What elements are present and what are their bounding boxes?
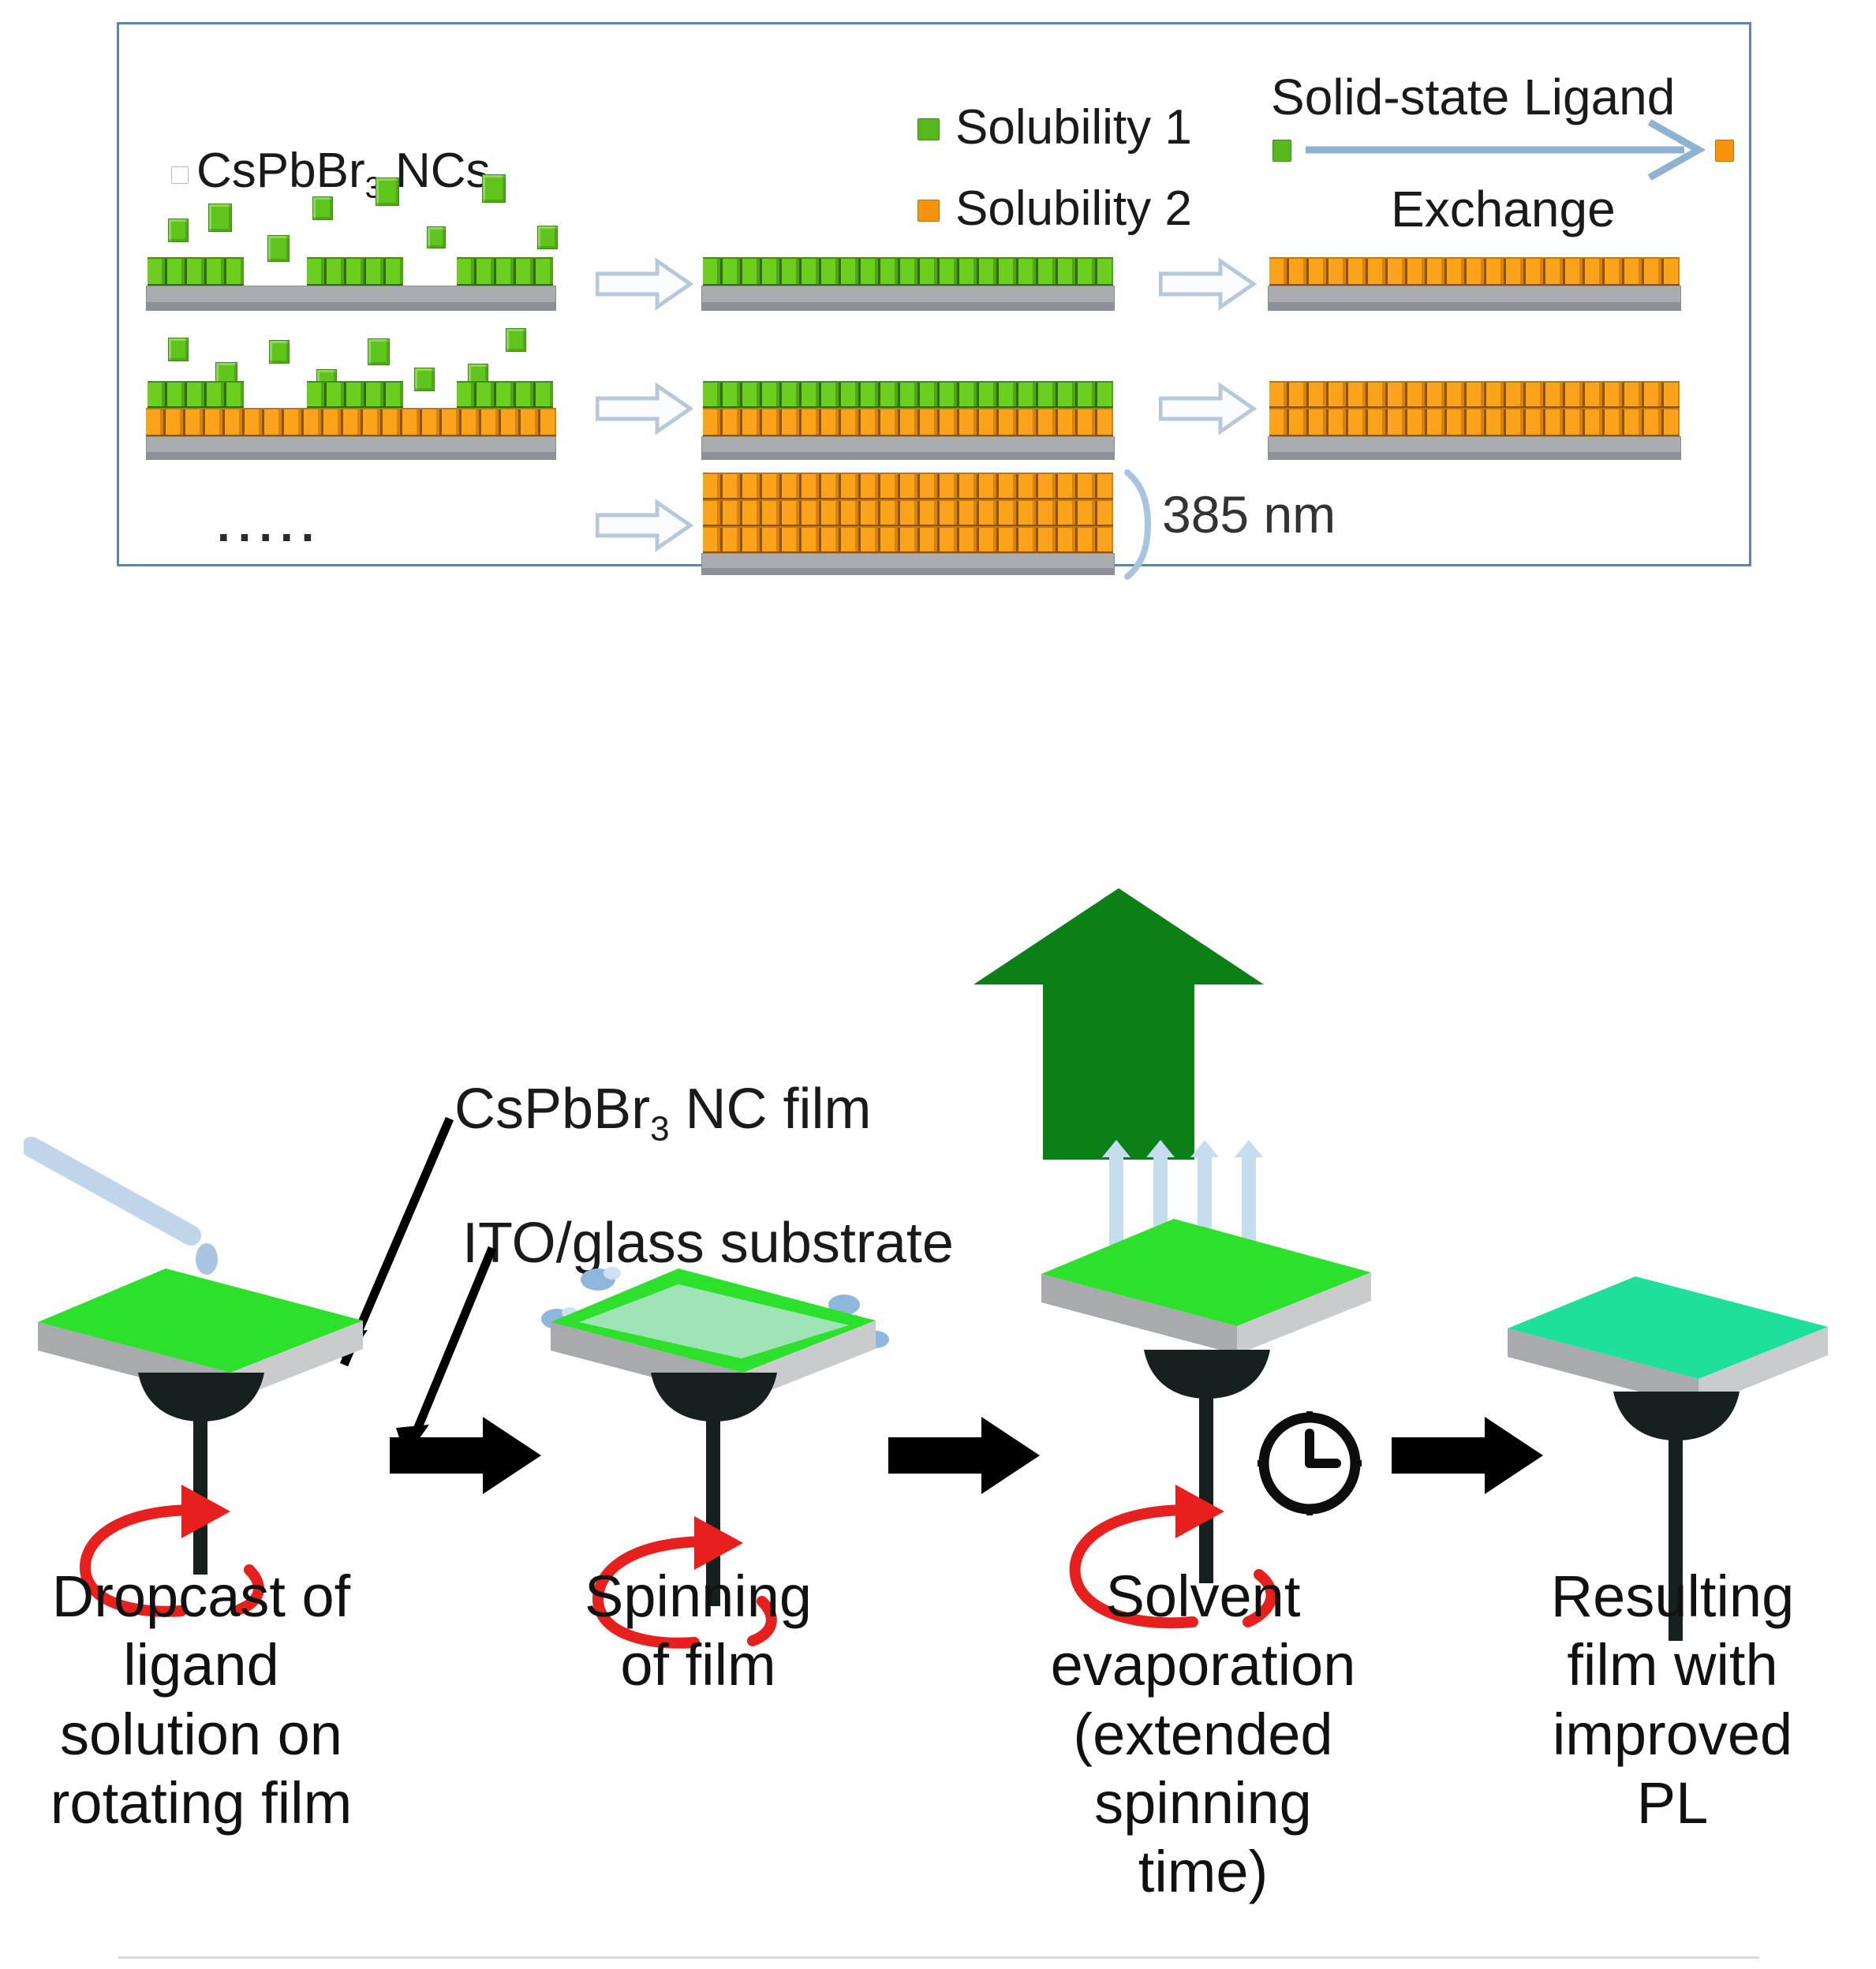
row1-stage-c-substrate <box>1268 286 1681 311</box>
row3-ellipsis: ..... <box>217 498 322 552</box>
row1-arrow-2 <box>1159 256 1257 312</box>
row2-arrow-1 <box>596 381 693 436</box>
row1-stage-a-group-1 <box>148 257 244 286</box>
exchange-subtitle: Exchange <box>1391 184 1616 234</box>
row1-stage-a-group-2 <box>307 257 403 286</box>
row2-stage-a-base <box>146 408 556 436</box>
row2-stage-a-group-1 <box>148 381 244 408</box>
caption-solvent-evaporation: Solvent evaporation (extended spinning t… <box>1018 1562 1388 1907</box>
row1-stage-b-film <box>703 257 1113 286</box>
exchange-to-icon <box>1715 140 1734 162</box>
nc-legend-label: CsPbBr3 NCs <box>196 147 491 203</box>
row1-stage-a-group-3 <box>457 257 553 286</box>
step-arrow-1 <box>387 1412 544 1499</box>
row2-stage-c-substrate <box>1268 436 1681 460</box>
row2-stage-c-layer-2 <box>1269 408 1680 436</box>
row1-stage-c-film <box>1269 257 1680 286</box>
bottom-divider <box>118 1956 1759 1959</box>
caption-spinning: Spinning of film <box>513 1562 884 1700</box>
exchange-arrow-icon <box>1302 118 1713 182</box>
row2-stage-c-layer-1 <box>1269 381 1680 408</box>
step-arrow-2 <box>885 1412 1043 1499</box>
thickness-label: 385 nm <box>1162 488 1336 540</box>
row2-stage-a-substrate <box>146 436 556 460</box>
row3-layer-2 <box>703 499 1113 526</box>
spin-coating-process: CsPbBr3 NC film ITO/glass substrate <box>0 1057 1876 1969</box>
row3-layer-3 <box>703 526 1113 553</box>
row2-stage-b-base <box>703 408 1113 436</box>
ligand-exchange-panel: CsPbBr3 NCs Solubility 1 Solubility 2 So… <box>117 22 1751 566</box>
solubility1-swatch-icon <box>917 118 940 140</box>
thickness-brace-icon <box>1123 469 1154 580</box>
row3-layer-1 <box>703 473 1113 499</box>
nc-swatch-icon <box>171 166 189 184</box>
row1-arrow-1 <box>596 256 693 312</box>
exchange-title: Solid-state Ligand <box>1271 72 1675 122</box>
caption-resulting-film: Resulting film with improved PL <box>1499 1562 1846 1837</box>
row2-stage-a-group-2 <box>307 381 403 408</box>
row2-stage-a-group-3 <box>457 381 553 408</box>
row3-arrow <box>596 498 693 553</box>
row2-stage-b-substrate <box>701 436 1115 460</box>
row2-arrow-2 <box>1159 381 1257 436</box>
solubility2-label: Solubility 2 <box>955 185 1192 234</box>
exchange-from-icon <box>1272 140 1291 162</box>
row1-stage-b-substrate <box>701 286 1115 311</box>
solubility2-swatch-icon <box>917 200 940 222</box>
row3-substrate <box>701 553 1115 575</box>
solubility1-label: Solubility 1 <box>955 103 1192 152</box>
row2-stage-b-film <box>703 381 1113 408</box>
caption-dropcast: Dropcast of ligand solution on rotating … <box>16 1562 387 1837</box>
row1-stage-a-substrate <box>146 286 556 311</box>
film-annotation-label: CsPbBr3 NC film <box>454 1081 872 1146</box>
